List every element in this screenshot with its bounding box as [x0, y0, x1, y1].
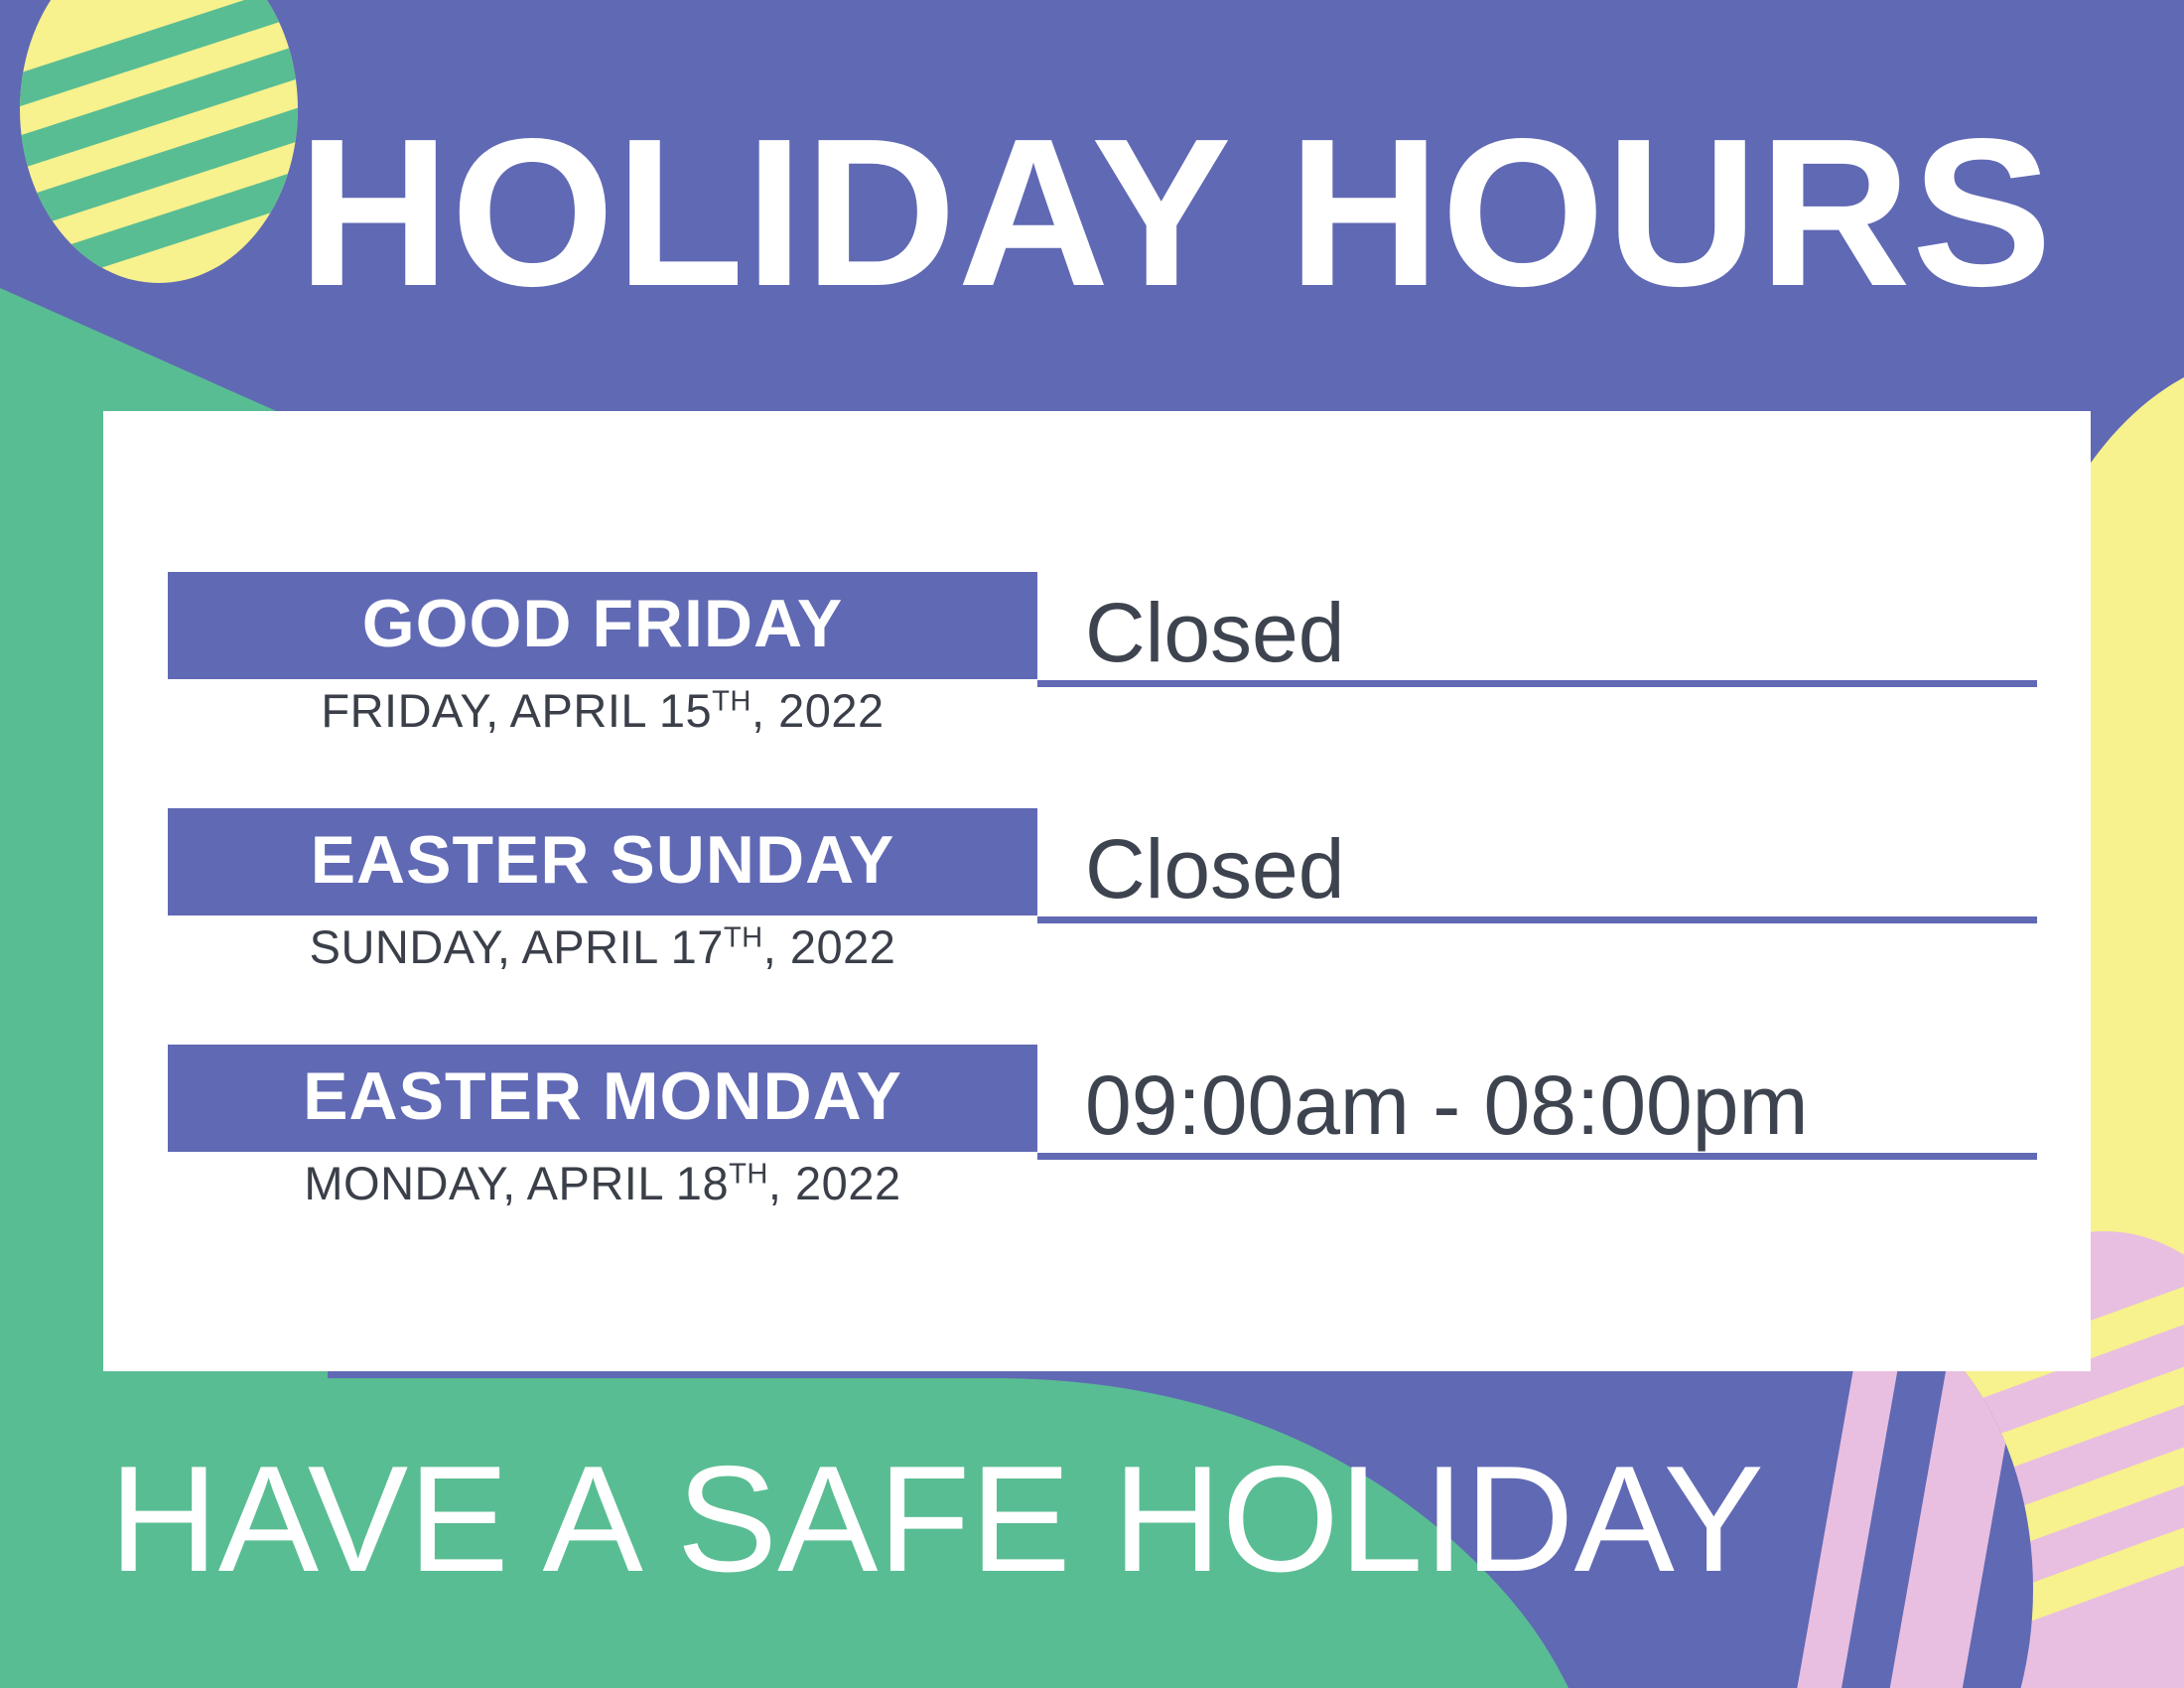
- holiday-hours-value: Closed: [1037, 591, 1344, 680]
- schedule-row-main: GOOD FRIDAY Closed: [103, 572, 2091, 679]
- holiday-date: SUNDAY, APRIL 17TH, 2022: [168, 919, 1037, 974]
- holiday-date: FRIDAY, APRIL 15TH, 2022: [168, 683, 1037, 738]
- holiday-hours-poster: HOLIDAY HOURS GOOD FRIDAY Closed FRIDAY,…: [0, 0, 2184, 1688]
- holiday-date-ordinal: TH: [724, 921, 763, 953]
- footer-message: HAVE A SAFE HOLIDAY: [109, 1430, 1598, 1609]
- holiday-hours-field: 09:00am - 08:00pm: [1037, 1045, 2037, 1160]
- holiday-name-bar: EASTER SUNDAY: [168, 808, 1037, 915]
- holiday-date-ordinal: TH: [729, 1158, 768, 1190]
- footer-message-text: HAVE A SAFE HOLIDAY: [109, 1433, 1764, 1607]
- schedule-row: GOOD FRIDAY Closed FRIDAY, APRIL 15TH, 2…: [103, 572, 2091, 679]
- schedule-row-main: EASTER SUNDAY Closed: [103, 808, 2091, 915]
- holiday-date-suffix: , 2022: [763, 920, 896, 973]
- holiday-name-bar: GOOD FRIDAY: [168, 572, 1037, 679]
- holiday-name-label: EASTER SUNDAY: [311, 821, 895, 899]
- schedule-rows: GOOD FRIDAY Closed FRIDAY, APRIL 15TH, 2…: [103, 411, 2091, 1371]
- holiday-date: MONDAY, APRIL 18TH, 2022: [168, 1156, 1037, 1210]
- holiday-hours-value: 09:00am - 08:00pm: [1037, 1063, 1808, 1153]
- page-title: HOLIDAY HOURS: [298, 103, 1985, 322]
- holiday-name-bar: EASTER MONDAY: [168, 1045, 1037, 1152]
- holiday-hours-field: Closed: [1037, 808, 2037, 923]
- holiday-name-label: EASTER MONDAY: [303, 1057, 902, 1135]
- holiday-date-prefix: SUNDAY, APRIL 17: [310, 920, 724, 973]
- holiday-name-label: GOOD FRIDAY: [362, 585, 844, 662]
- schedule-row: EASTER MONDAY 09:00am - 08:00pm MONDAY, …: [103, 1045, 2091, 1152]
- schedule-card: GOOD FRIDAY Closed FRIDAY, APRIL 15TH, 2…: [103, 411, 2091, 1371]
- holiday-date-prefix: MONDAY, APRIL 18: [304, 1157, 729, 1209]
- holiday-hours-value: Closed: [1037, 827, 1344, 916]
- schedule-row: EASTER SUNDAY Closed SUNDAY, APRIL 17TH,…: [103, 808, 2091, 915]
- holiday-date-suffix: , 2022: [751, 684, 885, 737]
- holiday-date-prefix: FRIDAY, APRIL 15: [321, 684, 712, 737]
- holiday-hours-field: Closed: [1037, 572, 2037, 687]
- holiday-date-ordinal: TH: [712, 685, 751, 717]
- holiday-date-suffix: , 2022: [768, 1157, 901, 1209]
- page-title-text: HOLIDAY HOURS: [298, 112, 2053, 312]
- schedule-row-main: EASTER MONDAY 09:00am - 08:00pm: [103, 1045, 2091, 1152]
